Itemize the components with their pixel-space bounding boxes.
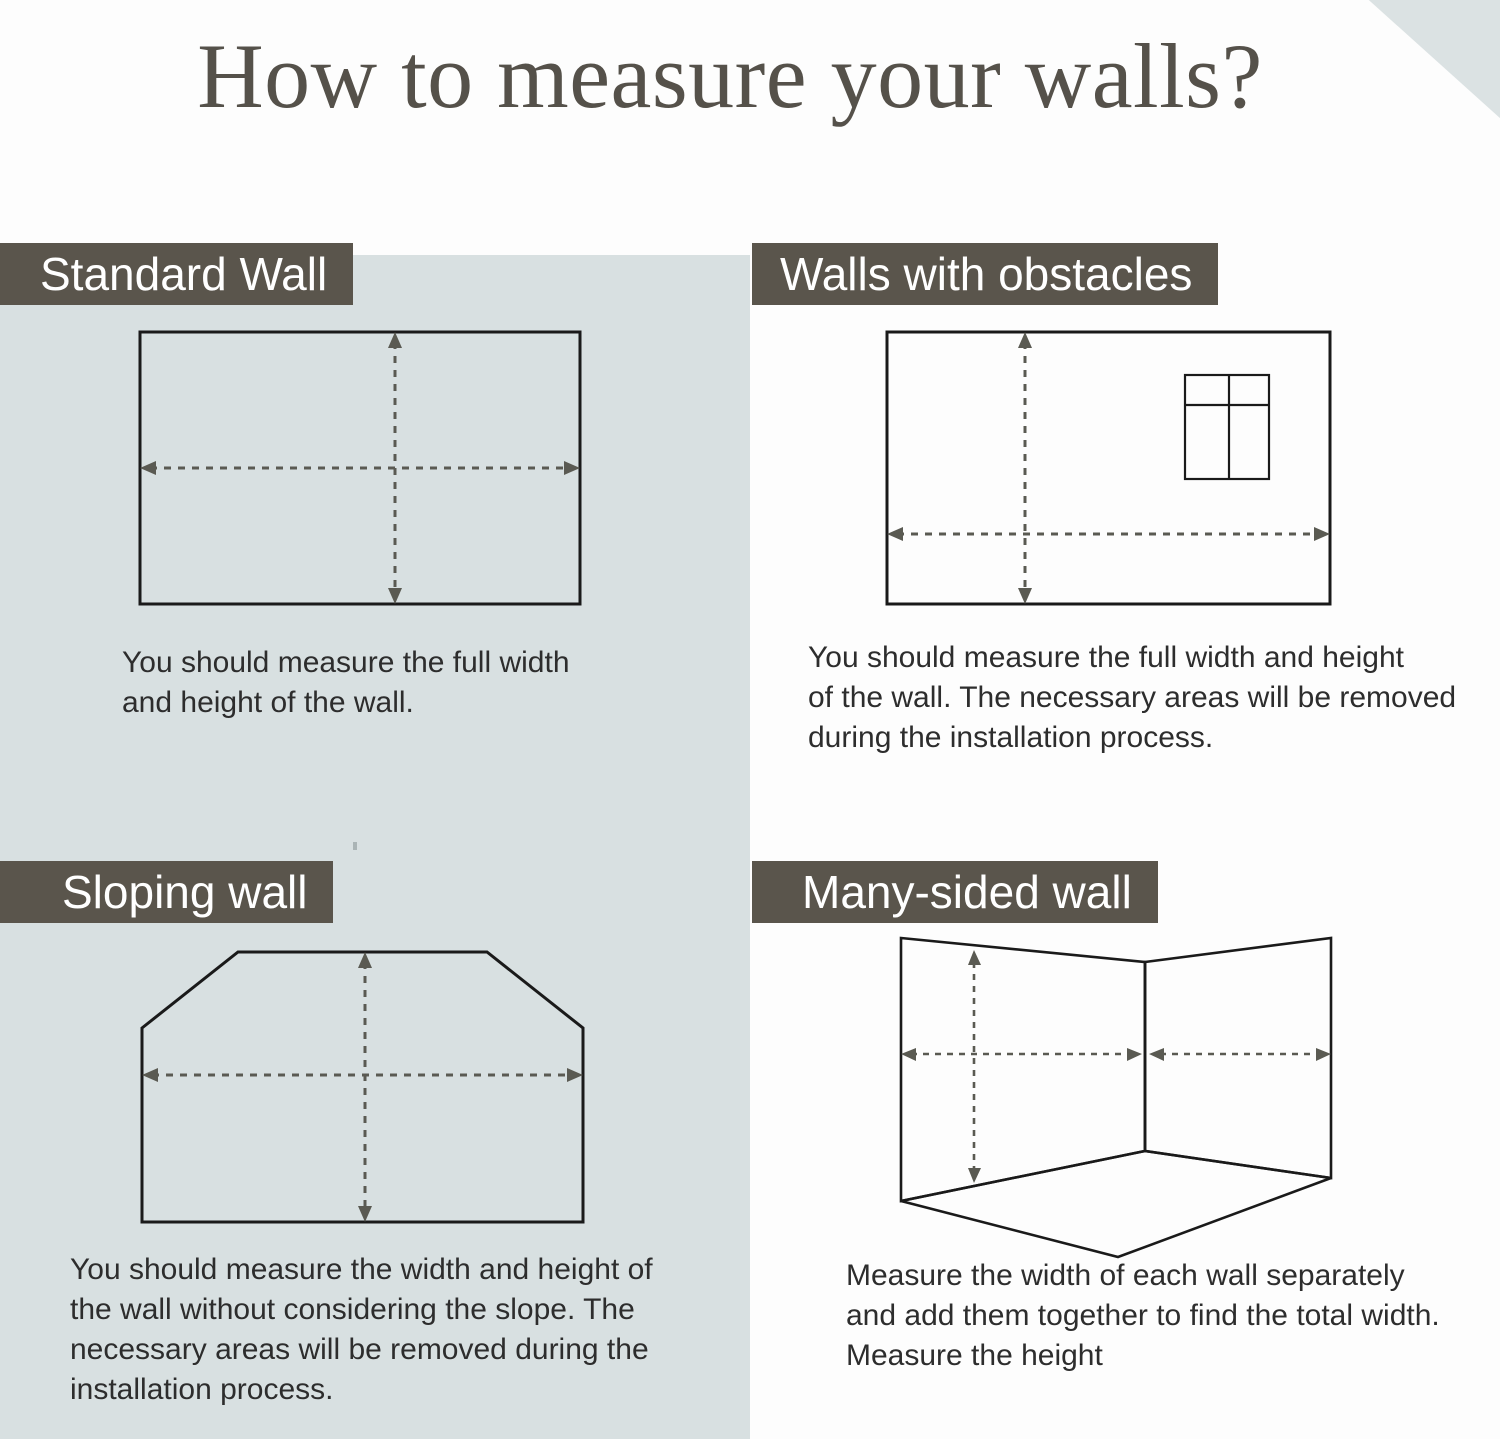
sloping-wall-diagram (120, 930, 620, 1260)
height-arrow-down-icon (358, 1206, 372, 1222)
height-arrow-down-icon (388, 588, 402, 604)
left-width-arrow-right-icon (1127, 1048, 1142, 1061)
section-header-label: Walls with obstacles (780, 243, 1192, 305)
section-header-walls-with-obstacles: Walls with obstacles (752, 243, 1218, 305)
sloping-wall-outline (142, 952, 583, 1222)
page-title: How to measure your walls? (0, 28, 1460, 125)
section-header-sloping-wall: Sloping wall (0, 861, 333, 923)
width-arrow-left-icon (140, 461, 156, 475)
caption-sloping-wall: You should measure the width and height … (70, 1250, 710, 1410)
section-header-label: Sloping wall (62, 861, 307, 923)
height-arrow-up-icon (968, 950, 981, 965)
section-header-many-sided-wall: Many-sided wall (752, 861, 1158, 923)
infographic-page: How to measure your walls? Standard Wall… (0, 0, 1500, 1439)
stray-mark (353, 842, 357, 850)
caption-standard-wall: You should measure the full width and he… (122, 643, 682, 723)
obstacle-wall-diagram (860, 320, 1360, 620)
width-arrow-right-icon (567, 1068, 583, 1082)
height-arrow-down-icon (1018, 588, 1032, 604)
many-sided-wall-diagram (870, 920, 1360, 1265)
right-width-arrow-right-icon (1316, 1048, 1331, 1061)
right-wall-plane (1145, 938, 1331, 1178)
width-arrow-left-icon (887, 527, 903, 541)
height-arrow-up-icon (358, 952, 372, 968)
caption-walls-with-obstacles: You should measure the full width and he… (808, 638, 1488, 758)
section-header-standard-wall: Standard Wall (0, 243, 353, 305)
width-arrow-right-icon (564, 461, 580, 475)
left-width-arrow-left-icon (901, 1048, 916, 1061)
width-arrow-right-icon (1314, 527, 1330, 541)
height-arrow-up-icon (388, 332, 402, 348)
wall-outline-rect (887, 332, 1330, 604)
caption-many-sided-wall: Measure the width of each wall separatel… (846, 1256, 1486, 1376)
standard-wall-diagram (110, 320, 610, 620)
left-wall-plane (901, 938, 1145, 1201)
section-header-label: Standard Wall (40, 243, 327, 305)
window-obstacle-icon (1185, 375, 1269, 479)
section-header-label: Many-sided wall (802, 861, 1132, 923)
height-arrow-down-icon (968, 1168, 981, 1183)
height-arrow-up-icon (1018, 332, 1032, 348)
width-arrow-left-icon (142, 1068, 158, 1082)
right-width-arrow-left-icon (1149, 1048, 1164, 1061)
floor-plane (901, 1151, 1331, 1257)
